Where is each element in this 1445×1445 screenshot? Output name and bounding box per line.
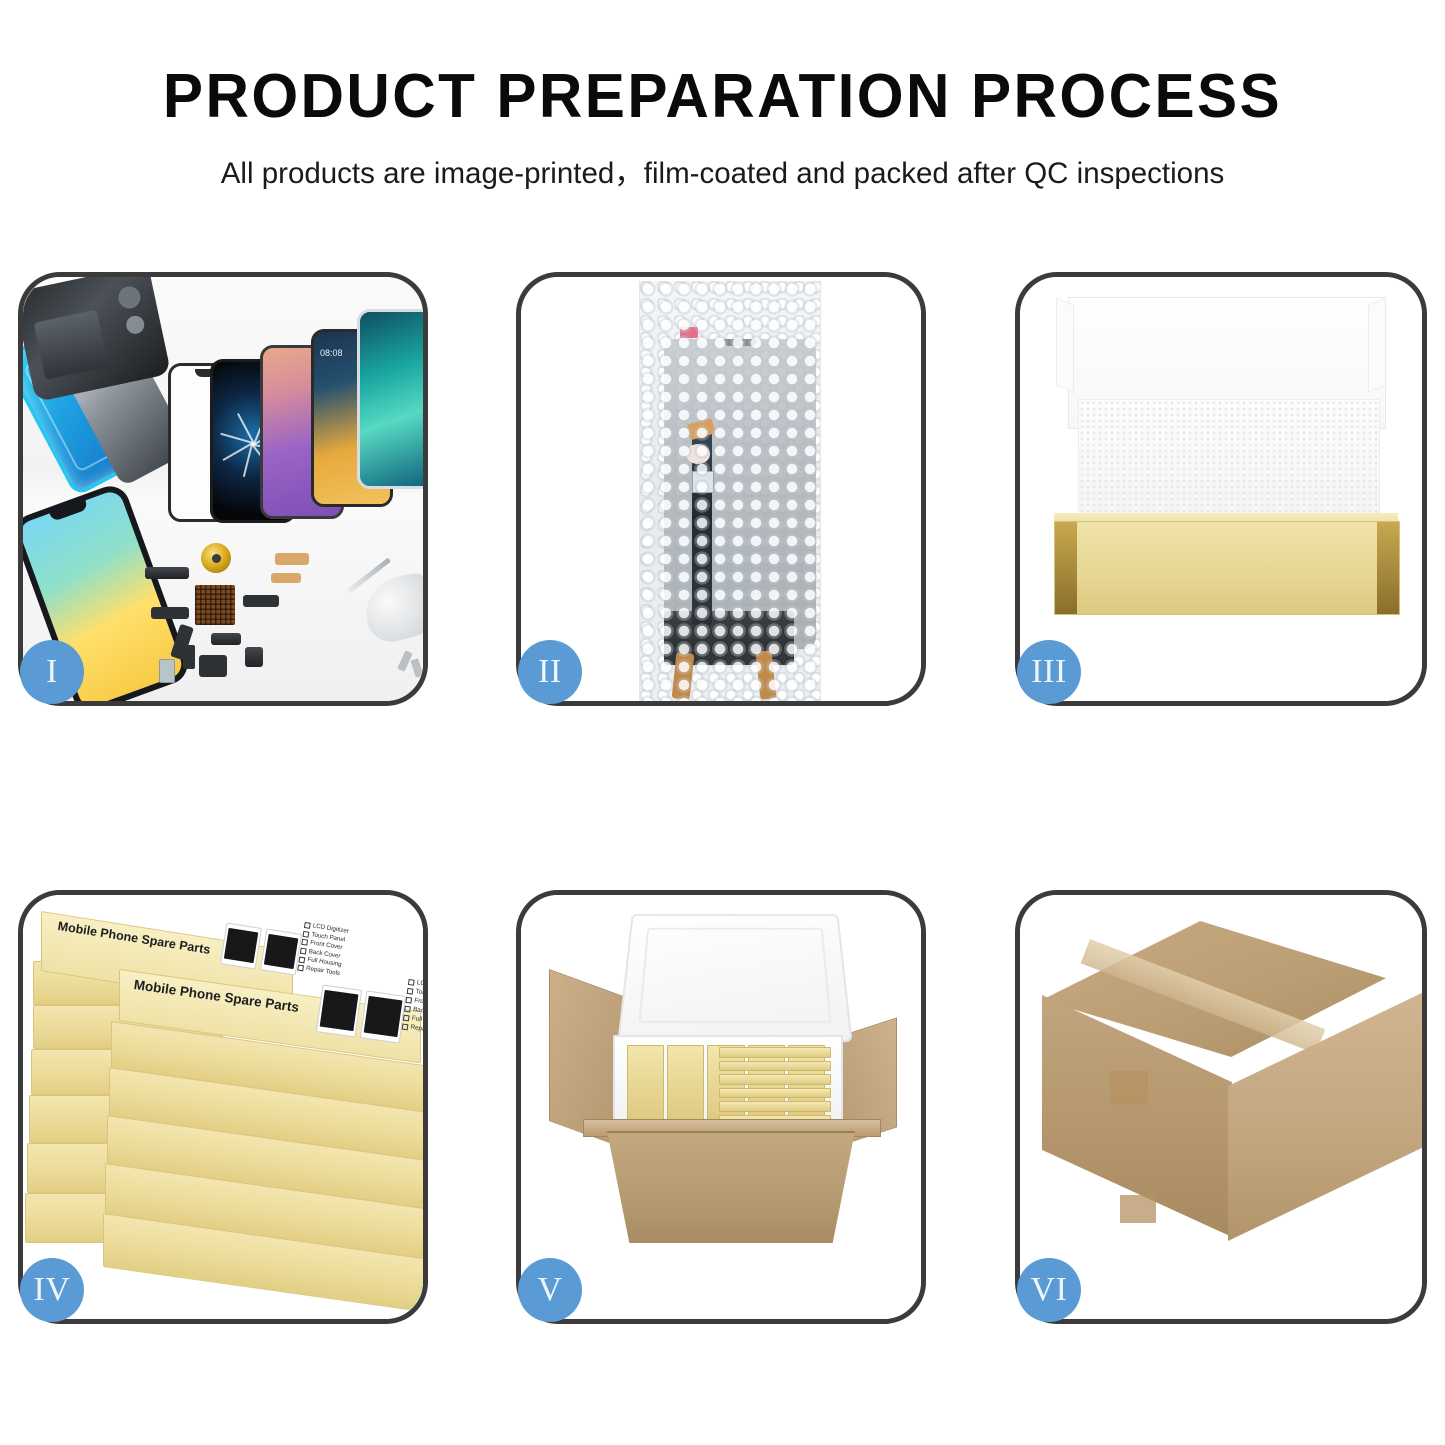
foam-box-lid-icon	[617, 914, 852, 1042]
checkbox-icon	[297, 965, 304, 972]
camera-lens-icon	[116, 284, 142, 310]
gold-boxes-stack-icon	[719, 1047, 831, 1125]
process-step-panel-5[interactable]: V	[516, 890, 926, 1324]
flex-cable-icon	[275, 553, 309, 565]
checkbox-icon	[298, 956, 305, 963]
sensor-flex-icon	[243, 595, 279, 607]
step-1-image: 08:08	[23, 277, 423, 701]
screw-icon	[410, 658, 423, 678]
gold-box-item	[719, 1088, 831, 1099]
teal-phone-screen-icon	[357, 309, 423, 489]
checkbox-icon	[304, 922, 311, 929]
bracket-icon	[183, 645, 195, 669]
step-4-image: Mobile Phone Spare Parts LCD DigitizerTo…	[23, 895, 423, 1319]
gold-box-item	[719, 1061, 831, 1072]
process-step-panel-6[interactable]: VI	[1015, 890, 1427, 1324]
box-artwork-screen	[316, 984, 362, 1037]
step-badge-5: V	[518, 1258, 582, 1322]
speaker-module-icon	[199, 655, 227, 677]
step-badge-1: I	[20, 640, 84, 704]
checkbox-icon	[403, 1014, 410, 1021]
foam-sheet-icon	[1078, 399, 1380, 529]
step-badge-6: VI	[1017, 1258, 1081, 1322]
process-step-panel-4[interactable]: Mobile Phone Spare Parts LCD DigitizerTo…	[18, 890, 428, 1324]
gold-box-item	[719, 1047, 831, 1058]
carton-body-icon	[607, 1131, 855, 1243]
checkbox-icon	[408, 978, 415, 985]
phone-parts-collage: 08:08	[23, 277, 423, 701]
sealed-carton-scene	[1020, 895, 1422, 1319]
battery-icon	[34, 310, 109, 380]
box-checklist-2: LCD DigitizerTouch PanelFront CoverBack …	[401, 977, 423, 1037]
checkbox-icon	[404, 1005, 411, 1012]
flex-connector-icon	[686, 444, 710, 464]
connector-icon	[151, 607, 189, 619]
flex-cable-icon	[271, 573, 301, 583]
step-3-image	[1020, 277, 1422, 701]
camera-module-icon	[245, 647, 263, 667]
bubble-wrap-bag-icon	[639, 281, 821, 701]
box-artwork-screen	[220, 922, 262, 969]
pink-tape-marker-icon	[680, 327, 698, 338]
step-5-image	[521, 895, 921, 1319]
gold-box-item	[719, 1074, 831, 1085]
process-step-panel-1[interactable]: 08:08	[18, 272, 428, 706]
checkbox-icon	[301, 939, 308, 946]
step-badge-2: II	[518, 640, 582, 704]
process-steps-grid: 08:08	[0, 0, 1445, 1445]
camera-lens-icon	[125, 314, 146, 335]
gold-box-item	[667, 1045, 704, 1125]
checkbox-icon	[405, 996, 412, 1003]
step-6-image	[1020, 895, 1422, 1319]
checkbox-icon	[303, 931, 310, 938]
gold-box-item	[627, 1045, 664, 1125]
checkbox-icon	[300, 948, 307, 955]
box-checklist-1: LCD DigitizerTouch PanelFront CoverBack …	[297, 921, 349, 979]
sim-tray-icon	[159, 659, 175, 683]
ic-pad-icon	[692, 471, 714, 493]
flex-tail-icon	[672, 652, 695, 700]
tape-patch-icon	[1120, 1195, 1156, 1223]
process-step-panel-2[interactable]: II	[516, 272, 926, 706]
stacked-gold-boxes-scene: Mobile Phone Spare Parts LCD DigitizerTo…	[23, 895, 423, 1319]
lcd-screen-assembly-icon	[664, 339, 816, 649]
gold-box-item	[719, 1101, 831, 1112]
box-lid-flap-icon	[1056, 297, 1074, 392]
bubble-bag-scene	[521, 277, 921, 701]
earpiece-speaker-icon	[145, 567, 189, 579]
open-gold-box-scene	[1020, 277, 1422, 701]
step-2-image	[521, 277, 921, 701]
gold-box-base-icon	[1054, 521, 1400, 615]
box-lid-flap-icon	[1368, 297, 1386, 392]
phone-clock-label: 08:08	[320, 348, 343, 358]
carton-with-foam-scene	[521, 895, 921, 1319]
step-badge-4: IV	[20, 1258, 84, 1322]
step-badge-3: III	[1017, 640, 1081, 704]
wireless-coil-icon	[201, 543, 231, 573]
box-artwork-screen	[260, 928, 302, 975]
checkbox-icon	[407, 987, 414, 994]
tape-patch-icon	[1110, 1071, 1148, 1105]
checkbox-icon	[402, 1023, 409, 1030]
vibrator-icon	[211, 633, 241, 645]
process-step-panel-3[interactable]: III	[1015, 272, 1427, 706]
box-artwork-screen	[360, 990, 406, 1043]
technician-hand-icon	[359, 569, 423, 647]
ic-chip-icon	[195, 585, 235, 625]
